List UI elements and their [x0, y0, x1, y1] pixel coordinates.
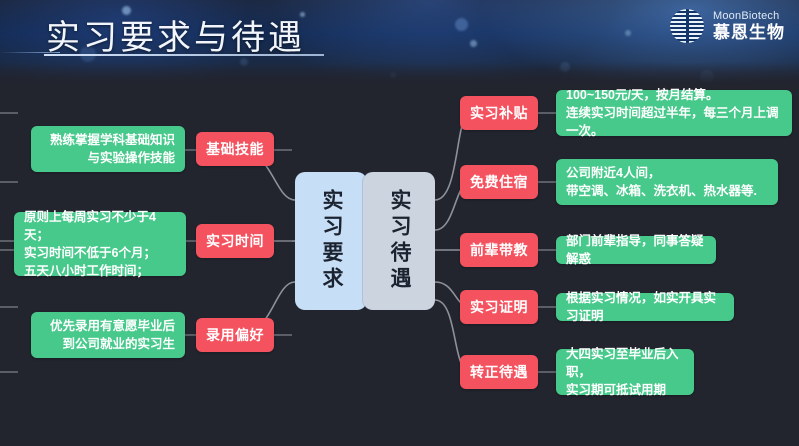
slide-canvas: 实习要求与待遇 MoonBiotech 慕恩生物: [0, 0, 799, 446]
key-node-certificate[interactable]: 实习证明: [460, 290, 538, 324]
key-node-preference[interactable]: 录用偏好: [196, 318, 274, 352]
detail-line: 部门前辈指导，同事答疑解惑: [566, 232, 706, 268]
detail-line: 原则上每周实习不少于4天；: [24, 208, 176, 244]
detail-line: 带空调、冰箱、洗衣机、热水器等.: [566, 182, 757, 200]
center-node-requirements[interactable]: 实习要求: [295, 172, 367, 310]
detail-node-housing: 公司附近4人间， 带空调、冰箱、洗衣机、热水器等.: [556, 159, 778, 205]
detail-node-mentor: 部门前辈指导，同事答疑解惑: [556, 236, 716, 264]
detail-line: 大四实习至毕业后入职，: [566, 345, 684, 381]
detail-line: 连续实习时间超过半年，每三个月上调一次。: [566, 104, 782, 140]
detail-line: 根据实习情况，如实开具实习证明: [566, 289, 724, 325]
detail-line: 公司附近4人间，: [566, 164, 660, 182]
detail-line: 实习时间不低于6个月；: [24, 244, 156, 262]
key-node-conversion[interactable]: 转正待遇: [460, 355, 538, 389]
detail-line: 与实验操作技能: [87, 149, 175, 167]
detail-node-skills: 熟练掌握学科基础知识 与实验操作技能: [31, 126, 185, 172]
key-node-housing[interactable]: 免费住宿: [460, 165, 538, 199]
key-node-allowance[interactable]: 实习补贴: [460, 96, 538, 130]
detail-line: 五天八小时工作时间；: [24, 262, 149, 280]
center-node-benefits[interactable]: 实习待遇: [363, 172, 435, 310]
detail-line: 到公司就业的实习生: [62, 335, 175, 353]
key-node-skills[interactable]: 基础技能: [196, 132, 274, 166]
detail-node-preference: 优先录用有意愿毕业后 到公司就业的实习生: [31, 312, 185, 358]
detail-node-allowance: 100~150元/天，按月结算。 连续实习时间超过半年，每三个月上调一次。: [556, 90, 792, 136]
detail-line: 实习期可抵试用期: [566, 381, 666, 399]
detail-line: 熟练掌握学科基础知识: [50, 131, 175, 149]
detail-node-duration: 原则上每周实习不少于4天； 实习时间不低于6个月； 五天八小时工作时间；: [14, 212, 186, 276]
detail-node-certificate: 根据实习情况，如实开具实习证明: [556, 293, 734, 321]
key-node-mentor[interactable]: 前辈带教: [460, 233, 538, 267]
detail-line: 100~150元/天，按月结算。: [566, 86, 719, 104]
detail-node-conversion: 大四实习至毕业后入职， 实习期可抵试用期: [556, 349, 694, 395]
detail-line: 优先录用有意愿毕业后: [50, 317, 175, 335]
key-node-duration[interactable]: 实习时间: [196, 224, 274, 258]
